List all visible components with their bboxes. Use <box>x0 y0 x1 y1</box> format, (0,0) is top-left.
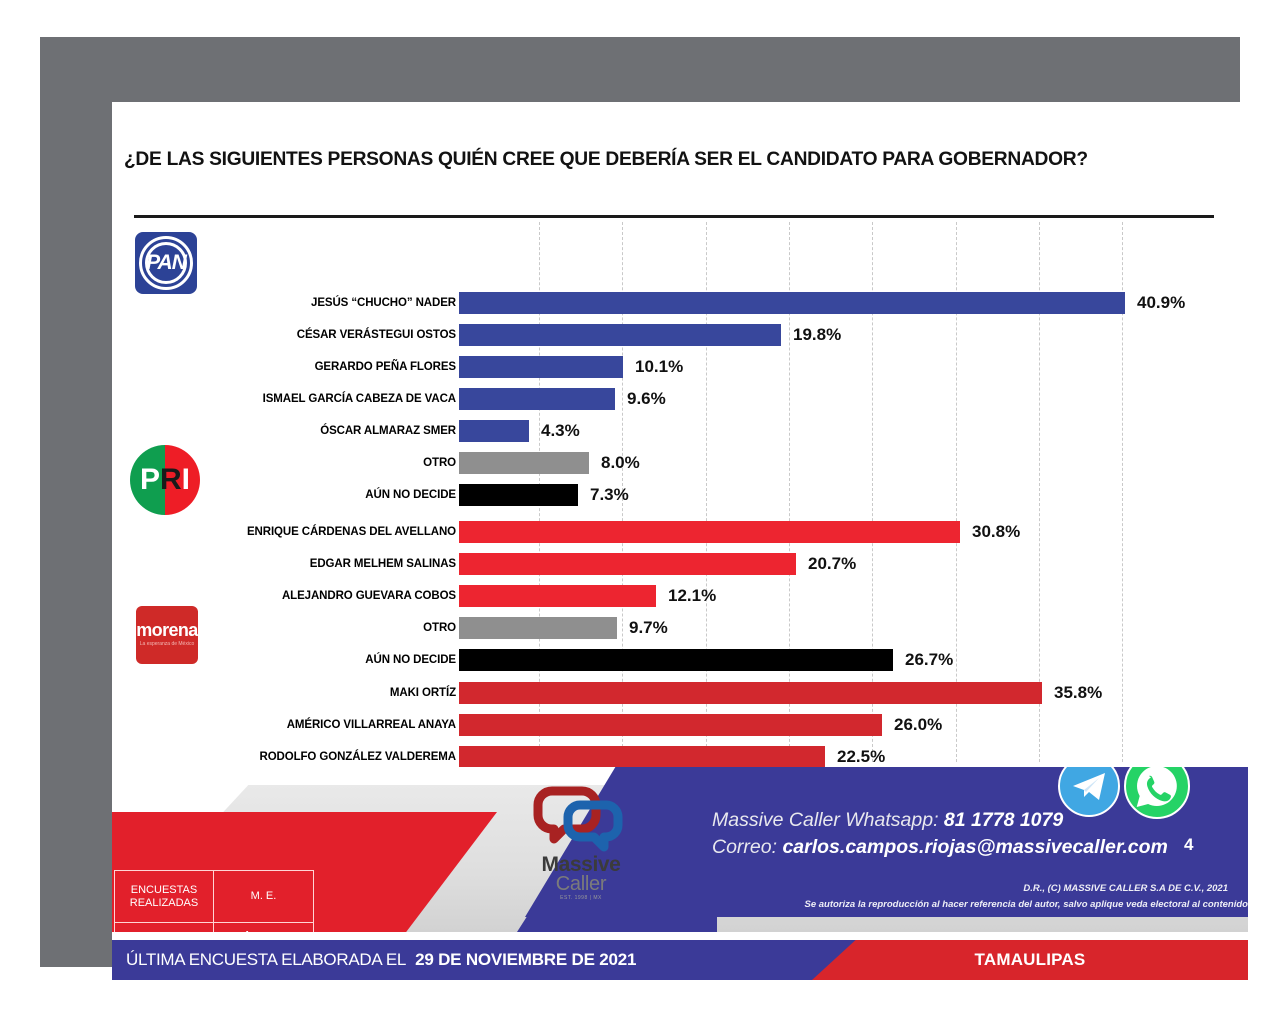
stats-value-margin: +/- 3.4% <box>214 923 313 932</box>
table-row: ALEJANDRO GUEVARA COBOS12.1% <box>112 583 1248 609</box>
bar-label: AMÉRICO VILLARREAL ANAYA <box>287 719 456 731</box>
whatsapp-glyph-icon <box>1126 767 1188 817</box>
bar <box>459 714 882 736</box>
table-row: GERARDO PEÑA FLORES10.1% <box>112 354 1248 380</box>
bar <box>459 585 656 607</box>
bar-label: OTRO <box>423 622 456 634</box>
bar-value-label: 26.7% <box>905 650 953 670</box>
whatsapp-number[interactable]: 81 1778 1079 <box>944 809 1063 831</box>
survey-stats-table: ENCUESTAS REALIZADAS M. E. 1000 +/- 3.4% <box>114 870 314 932</box>
bar-label: JESÚS “CHUCHO” NADER <box>311 297 456 309</box>
email-label: Correo: <box>712 836 777 858</box>
massive-caller-mark-icon <box>516 779 646 859</box>
copyright-line: D.R., (C) MASSIVE CALLER S.A DE C.V., 20… <box>748 883 1228 894</box>
massive-caller-tagline: EST. 1998 | MX <box>516 895 646 901</box>
footer-band: ENCUESTAS REALIZADAS M. E. 1000 +/- 3.4% <box>112 767 1248 932</box>
bar <box>459 746 825 768</box>
bar-label: CÉSAR VERÁSTEGUI OSTOS <box>297 329 456 341</box>
bar-value-label: 22.5% <box>837 747 885 767</box>
email-address[interactable]: carlos.campos.riojas@massivecaller.com <box>782 836 1167 858</box>
bar-label: OTRO <box>423 457 456 469</box>
bar-value-label: 20.7% <box>808 554 856 574</box>
stats-header-surveys-line2: REALIZADAS <box>130 897 198 909</box>
page-title: ¿DE LAS SIGUIENTES PERSONAS QUIÉN CREE Q… <box>124 148 1223 171</box>
bar-label: ENRIQUE CÁRDENAS DEL AVELLANO <box>247 526 456 538</box>
table-row: OTRO9.7% <box>112 615 1248 641</box>
bar <box>459 682 1042 704</box>
survey-date: 29 DE NOVIEMBRE DE 2021 <box>415 950 636 970</box>
telegram-icon[interactable] <box>1058 767 1120 817</box>
bar-value-label: 7.3% <box>590 485 629 505</box>
table-row: OTRO8.0% <box>112 450 1248 476</box>
bar-label: MAKI ORTÍZ <box>390 687 456 699</box>
state-label: TAMAULIPAS <box>812 940 1248 980</box>
bar-value-label: 40.9% <box>1137 293 1185 313</box>
bar-label: AÚN NO DECIDE <box>365 654 456 666</box>
bar-chart-plot: JESÚS “CHUCHO” NADER40.9%CÉSAR VERÁSTEGU… <box>112 222 1248 762</box>
bar <box>459 484 578 506</box>
table-row: ÓSCAR ALMARAZ SMER4.3% <box>112 418 1248 444</box>
bottom-bar: ÚLTIMA ENCUESTA ELABORADA EL 29 DE NOVIE… <box>112 940 1248 980</box>
stats-value-surveys: 1000 <box>115 923 214 932</box>
bar-value-label: 9.6% <box>627 389 666 409</box>
bar-value-label: 12.1% <box>668 586 716 606</box>
stats-header-surveys: ENCUESTAS REALIZADAS <box>115 871 214 923</box>
title-divider <box>134 215 1214 218</box>
table-row: JESÚS “CHUCHO” NADER40.9% <box>112 290 1248 316</box>
table-row: AMÉRICO VILLARREAL ANAYA26.0% <box>112 712 1248 738</box>
table-row: AÚN NO DECIDE7.3% <box>112 482 1248 508</box>
bar <box>459 388 615 410</box>
bar-label: ISMAEL GARCÍA CABEZA DE VACA <box>263 393 456 405</box>
bar <box>459 420 529 442</box>
telegram-glyph-icon <box>1060 767 1118 815</box>
bar <box>459 617 617 639</box>
table-row: MAKI ORTÍZ35.8% <box>112 680 1248 706</box>
bar-value-label: 35.8% <box>1054 683 1102 703</box>
table-row: ISMAEL GARCÍA CABEZA DE VACA9.6% <box>112 386 1248 412</box>
bar-label: GERARDO PEÑA FLORES <box>315 361 456 373</box>
reproduction-notice: Se autoriza la reproducción al hacer ref… <box>628 899 1248 910</box>
bar <box>459 324 781 346</box>
massive-caller-name-line2: Caller <box>516 873 646 896</box>
table-row: ENRIQUE CÁRDENAS DEL AVELLANO30.8% <box>112 519 1248 545</box>
bar-label: RODOLFO GONZÁLEZ VALDEREMA <box>259 751 456 763</box>
bar-value-label: 9.7% <box>629 618 668 638</box>
stats-header-surveys-line1: ENCUESTAS <box>131 884 197 896</box>
bar <box>459 521 960 543</box>
bar-value-label: 19.8% <box>793 325 841 345</box>
footer-blue-tail-shape <box>517 907 717 932</box>
bar-value-label: 26.0% <box>894 715 942 735</box>
table-row: EDGAR MELHEM SALINAS20.7% <box>112 551 1248 577</box>
bar-value-label: 8.0% <box>601 453 640 473</box>
poster-card: ¿DE LAS SIGUIENTES PERSONAS QUIÉN CREE Q… <box>112 102 1248 997</box>
stats-header-margin: M. E. <box>214 871 313 923</box>
table-row: AÚN NO DECIDE26.7% <box>112 647 1248 673</box>
bar-label: AÚN NO DECIDE <box>365 489 456 501</box>
bar <box>459 356 623 378</box>
bar-value-label: 30.8% <box>972 522 1020 542</box>
whatsapp-label: Massive Caller Whatsapp: <box>712 809 939 831</box>
bar <box>459 649 893 671</box>
bottom-bar-date-group: ÚLTIMA ENCUESTA ELABORADA EL 29 DE NOVIE… <box>126 940 636 980</box>
bar <box>459 553 796 575</box>
poster-outer-frame: ¿DE LAS SIGUIENTES PERSONAS QUIÉN CREE Q… <box>40 37 1240 967</box>
bar-label: ÓSCAR ALMARAZ SMER <box>320 425 456 437</box>
table-row: CÉSAR VERÁSTEGUI OSTOS19.8% <box>112 322 1248 348</box>
page-number: 4 <box>1184 835 1193 855</box>
bar-label: EDGAR MELHEM SALINAS <box>310 558 456 570</box>
whatsapp-icon[interactable] <box>1124 767 1190 819</box>
bar <box>459 452 589 474</box>
bar-value-label: 4.3% <box>541 421 580 441</box>
bar-value-label: 10.1% <box>635 357 683 377</box>
bar-label: ALEJANDRO GUEVARA COBOS <box>282 590 456 602</box>
date-prefix-label: ÚLTIMA ENCUESTA ELABORADA EL <box>126 950 406 970</box>
bar <box>459 292 1125 314</box>
email-line: Correo: carlos.campos.riojas@massivecall… <box>712 834 1232 861</box>
